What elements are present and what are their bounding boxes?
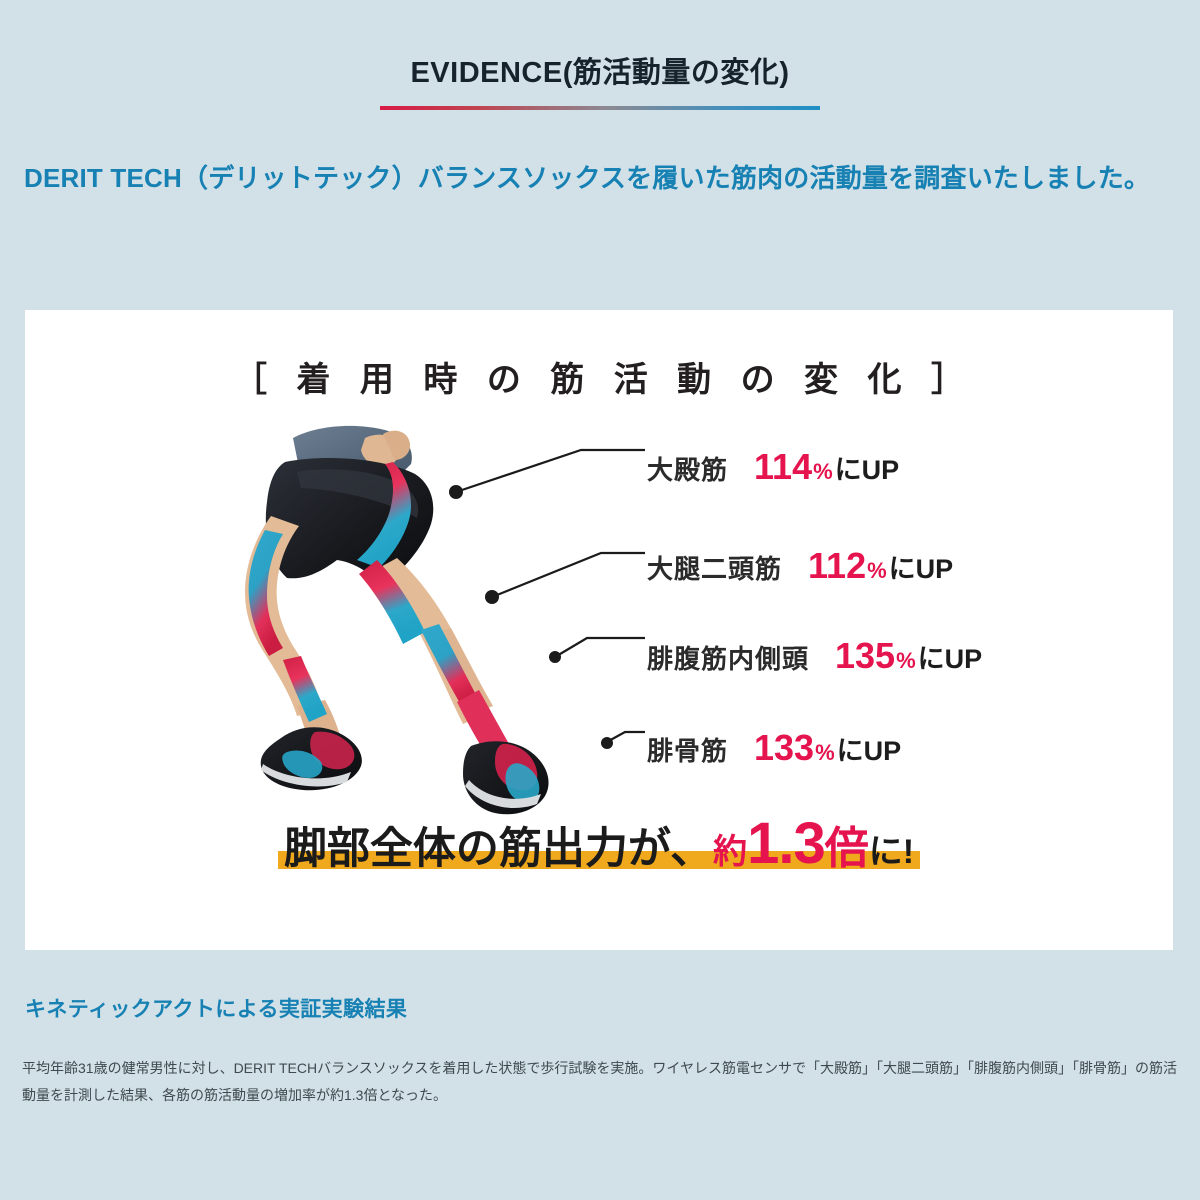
page-title: EVIDENCE(筋活動量の変化)	[410, 58, 789, 90]
muscle-value-number: 135	[835, 635, 895, 677]
footer-heading: キネティックアクトによる実証実験結果	[25, 993, 407, 1023]
percent-sign: %	[896, 648, 916, 674]
muscle-value: 133 % にUP	[754, 727, 901, 769]
muscle-name: 腓腹筋内側頭	[647, 639, 809, 676]
muscle-label-row: 腓腹筋内側頭 135 % にUP	[647, 635, 982, 677]
summary-multiplier: 1.3	[747, 811, 825, 876]
muscle-label-row: 大腿二頭筋 112 % にUP	[647, 545, 953, 587]
title-underline-rule	[380, 106, 820, 110]
muscle-value: 135 % にUP	[835, 635, 982, 677]
muscle-label-row: 大殿筋 114 % にUP	[647, 446, 899, 488]
muscle-value-number: 112	[808, 545, 866, 587]
summary-approx: 約	[713, 833, 747, 871]
muscle-name: 大殿筋	[647, 450, 728, 487]
muscle-value-suffix: にUP	[889, 547, 954, 586]
percent-sign: %	[815, 740, 835, 766]
muscle-value-suffix: にUP	[918, 637, 983, 676]
muscle-name: 腓骨筋	[647, 731, 728, 768]
leader-dot-4	[601, 737, 613, 749]
lead-paragraph: DERIT TECH（デリットテック）バランスソックスを履いた筋肉の活動量を調査…	[24, 158, 1176, 198]
muscle-value: 114 % にUP	[754, 446, 899, 488]
muscle-label-row: 腓骨筋 133 % にUP	[647, 727, 901, 769]
summary-text: 脚部全体の筋出力が、約1.3倍に!	[284, 825, 914, 873]
percent-sign: %	[867, 558, 887, 584]
evidence-page: EVIDENCE(筋活動量の変化) DERIT TECH（デリットテック）バラン…	[0, 0, 1200, 1200]
leader-dot-1	[449, 485, 463, 499]
summary-times-unit: 倍	[825, 824, 869, 873]
muscle-value: 112 % にUP	[808, 545, 953, 587]
figure-area: 大殿筋 114 % にUP 大腿二頭筋 112 % にUP	[25, 420, 1173, 840]
muscle-label-list: 大殿筋 114 % にUP 大腿二頭筋 112 % にUP	[625, 420, 1173, 840]
footer-note: 平均年齢31歳の健常男性に対し、DERIT TECHバランスソックスを着用した状…	[22, 1055, 1182, 1110]
leader-dot-3	[549, 651, 561, 663]
muscle-value-number: 114	[754, 446, 812, 488]
summary-lead: 脚部全体の筋出力が、	[284, 825, 713, 873]
card-heading: ［ 着 用 時 の 筋 活 動 の 変 化 ］	[25, 352, 1173, 401]
muscle-name: 大腿二頭筋	[647, 549, 782, 586]
summary-tail: に!	[869, 833, 914, 871]
summary-line: 脚部全体の筋出力が、約1.3倍に!	[25, 815, 1173, 873]
evidence-card: ［ 着 用 時 の 筋 活 動 の 変 化 ］	[25, 310, 1173, 950]
percent-sign: %	[813, 459, 833, 485]
muscle-value-suffix: にUP	[835, 448, 900, 487]
muscle-value-number: 133	[754, 727, 814, 769]
muscle-value-suffix: にUP	[837, 729, 902, 768]
leader-dot-2	[485, 590, 499, 604]
page-title-block: EVIDENCE(筋活動量の変化)	[0, 0, 1200, 110]
